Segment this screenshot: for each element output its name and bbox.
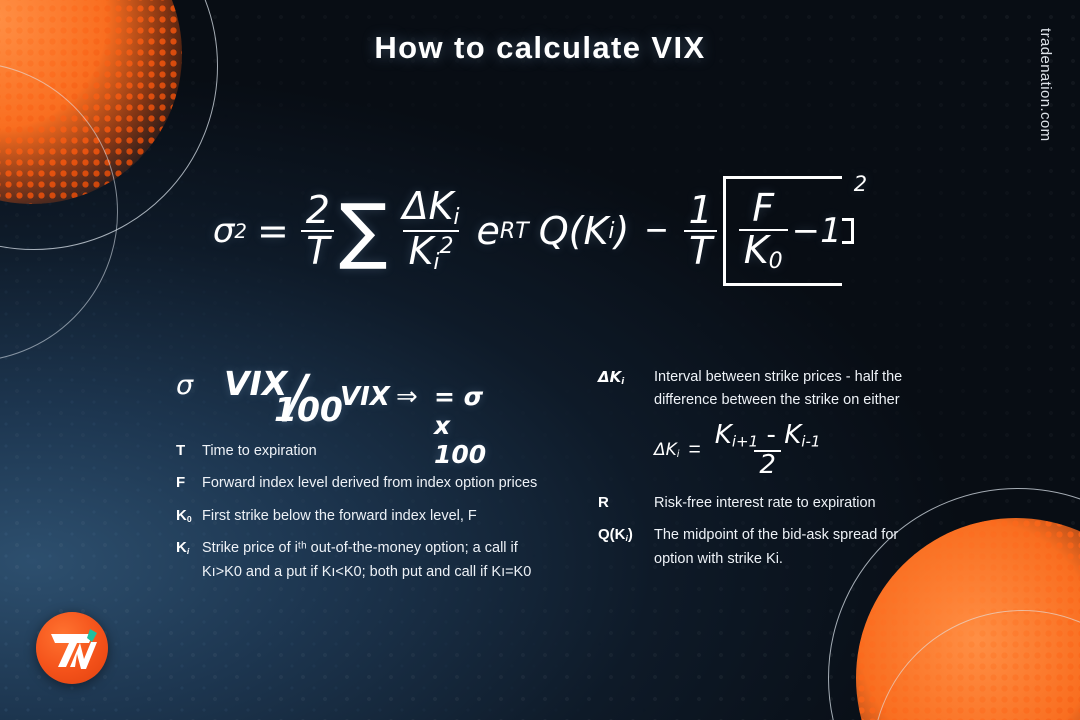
legend-description: Risk-free interest rate to expiration — [654, 492, 876, 515]
dki-numerator: Ki+1 - Ki-1 — [710, 422, 826, 450]
formula-bracket-group: F K0 −1 2 — [718, 176, 867, 286]
relation-sigma: σ — [176, 370, 193, 401]
delta-k-numerator: ΔKi — [397, 187, 464, 230]
t-denominator: T — [301, 230, 334, 272]
legend-symbol: K0 — [176, 505, 202, 528]
legend-symbol: F — [176, 472, 202, 495]
legend-symbol: ΔKi — [598, 366, 654, 389]
legend-description: Strike price of iᵗʰ out-of-the-money opt… — [202, 537, 531, 584]
legend-description: The midpoint of the bid-ask spread for o… — [654, 524, 898, 571]
page-title: How to calculate VIX — [0, 30, 1080, 66]
dki-denominator: 2 — [754, 450, 781, 479]
formula-deltak-over-ksq: ΔKi Ki2 — [397, 187, 464, 275]
legend-item-t: T Time to expiration — [176, 440, 576, 463]
relation-100-denominator: 100 — [274, 390, 343, 429]
legend-right-column: ΔKi Interval between strike prices - hal… — [598, 366, 1018, 580]
sigma-exponent: 2 — [234, 220, 247, 243]
legend-item-f: F Forward index level derived from index… — [176, 472, 576, 495]
implies-arrow-icon: ⇒ — [396, 382, 418, 412]
tradenation-logo[interactable] — [36, 612, 108, 684]
formula-f-over-k0: F K0 — [739, 189, 788, 273]
two-numerator: 2 — [301, 191, 335, 231]
legend-description: First strike below the forward index lev… — [202, 505, 477, 528]
legend-description-continuation: Kı>K0 and a put if Kı<K0; both put and c… — [202, 561, 531, 584]
tn-monogram-icon — [36, 612, 108, 684]
bracket-exponent: 2 — [854, 172, 867, 196]
legend-symbol: T — [176, 440, 202, 463]
legend-left-column: T Time to expiration F Forward index lev… — [176, 440, 576, 593]
legend-description: Interval between strike prices - half th… — [654, 366, 902, 413]
one-numerator: 1 — [684, 191, 718, 231]
dki-label: ΔKi — [654, 440, 680, 460]
f-numerator: F — [747, 189, 779, 229]
dki-equals: = — [689, 438, 701, 462]
legend-description-continuation: option with strike Ki. — [654, 548, 898, 571]
main-vix-formula: σ2 = 2 T ∑ ΔKi Ki2 eRT Q(Ki) − 1 T F — [0, 176, 1080, 286]
formula-two-over-t: 2 T — [301, 191, 335, 272]
formula-one-over-t: 1 T — [684, 191, 718, 272]
sigma-symbol: σ — [213, 211, 235, 251]
legend-item-r: R Risk-free interest rate to expiration — [598, 492, 1018, 515]
formula-e-to-rt: eRT — [477, 209, 529, 253]
k0-denominator: K0 — [739, 229, 788, 274]
legend-item-q-ki: Q(Ki) The midpoint of the bid-ask spread… — [598, 524, 1018, 571]
legend-description: Forward index level derived from index o… — [202, 472, 537, 495]
formula-sigma-squared: σ2 — [213, 211, 247, 251]
watermark-tradenation: tradenation.com — [1037, 28, 1054, 142]
bracket-left: F K0 −1 — [723, 176, 842, 286]
legend-item-delta-ki: ΔKi Interval between strike prices - hal… — [598, 366, 1018, 413]
t-denominator-2: T — [684, 230, 717, 272]
legend-description-continuation: difference between the strike on either — [654, 389, 902, 412]
legend-symbol: Q(Ki) — [598, 524, 654, 547]
formula-minus: − — [645, 210, 667, 253]
legend-description: Time to expiration — [202, 440, 317, 463]
legend-item-k0: K0 First strike below the forward index … — [176, 505, 576, 528]
bracket-right — [842, 218, 854, 244]
formula-equals: = — [257, 209, 289, 253]
k-squared-denominator: Ki2 — [403, 230, 458, 275]
dki-fraction: Ki+1 - Ki-1 2 — [710, 422, 826, 479]
legend-symbol: R — [598, 492, 654, 515]
formula-q-of-ki: Q(Ki) — [539, 209, 630, 253]
summation-symbol: ∑ — [339, 205, 388, 257]
relation-vix-label: VIX — [340, 382, 390, 412]
bracket-minus-one: −1 — [792, 211, 842, 251]
legend-item-ki: Ki Strike price of iᵗʰ out-of-the-money … — [176, 537, 576, 584]
delta-ki-formula: ΔKi = Ki+1 - Ki-1 2 — [654, 422, 1018, 479]
legend-symbol: Ki — [176, 537, 202, 560]
